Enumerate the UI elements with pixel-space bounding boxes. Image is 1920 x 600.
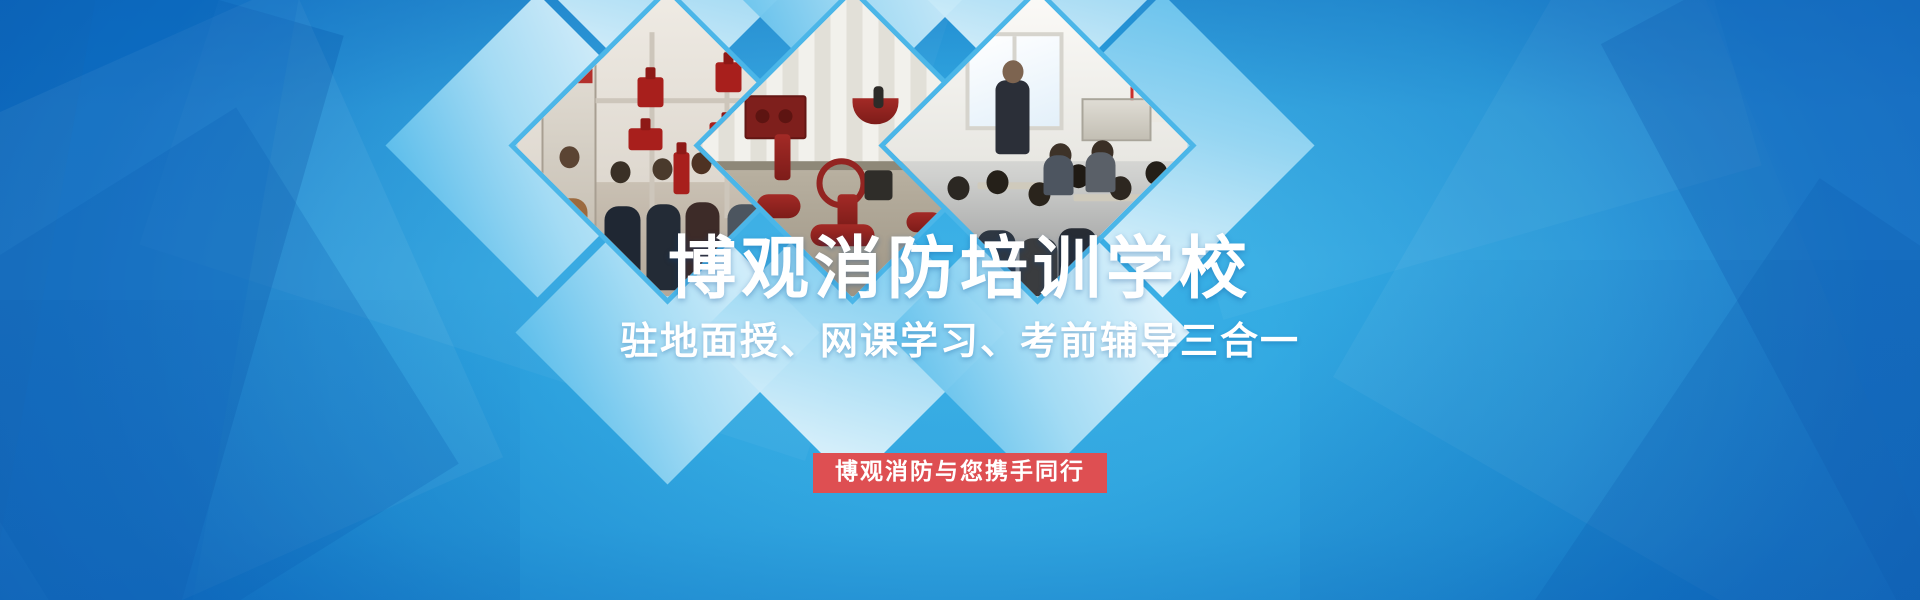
banner-badge-wrapper: 博观消防与您携手同行: [0, 453, 1920, 493]
banner-text-block: 博观消防培训学校 驻地面授、网课学习、考前辅导三合一 博观消防与您携手同行: [0, 0, 1920, 600]
banner-subtitle: 驻地面授、网课学习、考前辅导三合一: [0, 322, 1920, 360]
banner-slogan-badge: 博观消防与您携手同行: [813, 453, 1107, 493]
banner-title: 博观消防培训学校: [0, 236, 1920, 304]
training-school-banner: 消防: [0, 0, 1920, 600]
